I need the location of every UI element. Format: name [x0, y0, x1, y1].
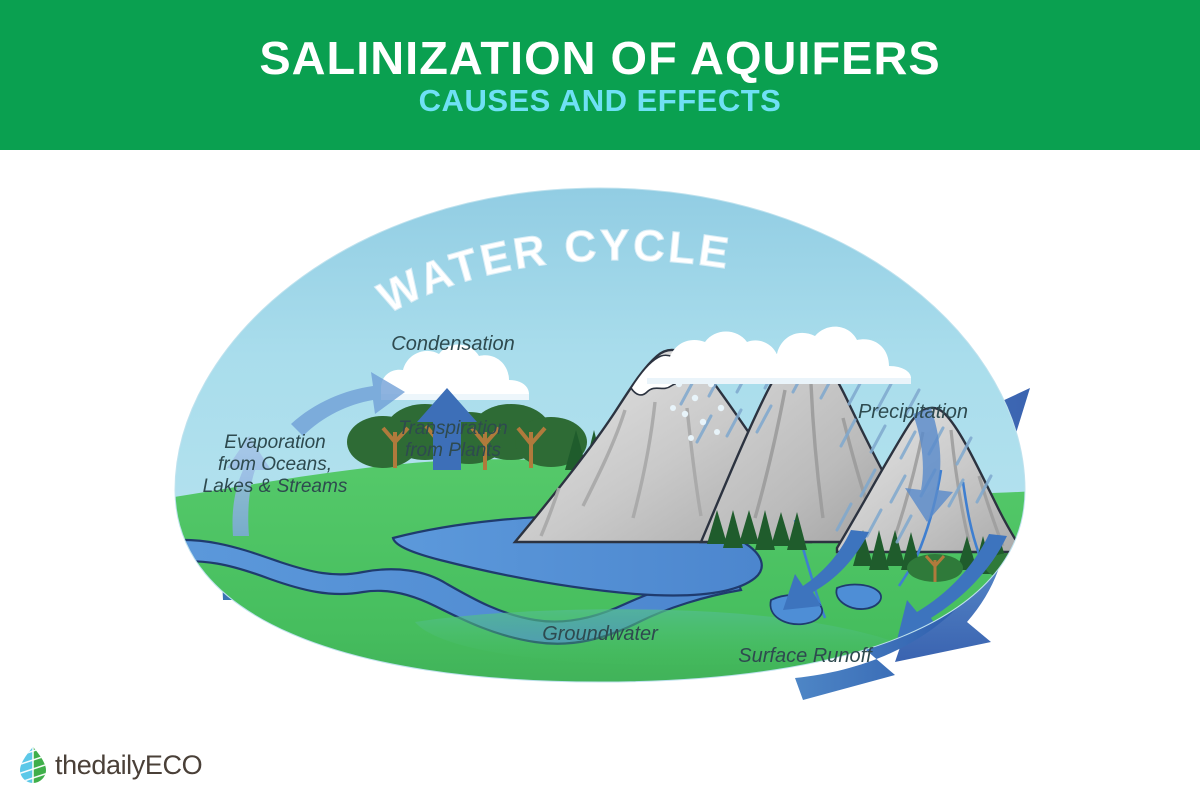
- label-transpiration-line2: from Plants: [405, 440, 502, 461]
- page-header: SALINIZATION OF AQUIFERS CAUSES AND EFFE…: [0, 0, 1200, 150]
- label-condensation: Condensation: [391, 333, 514, 355]
- label-evaporation-line1: Evaporation: [224, 432, 325, 453]
- label-groundwater: Groundwater: [542, 623, 659, 645]
- label-surface-runoff: Surface Runoff: [738, 645, 874, 667]
- site-logo[interactable]: thedailyECO: [18, 742, 202, 788]
- illustration-stage: WATER CYCLE Evaporation from Oceans, Lak…: [0, 150, 1200, 730]
- label-evaporation-line2: from Oceans,: [218, 454, 332, 475]
- label-precipitation: Precipitation: [858, 401, 968, 423]
- label-evaporation-line3: Lakes & Streams: [203, 476, 348, 497]
- logo-wordmark: thedailyECO: [55, 752, 202, 779]
- water-cycle-svg: WATER CYCLE Evaporation from Oceans, Lak…: [95, 170, 1105, 700]
- page-subtitle: CAUSES AND EFFECTS: [419, 85, 782, 116]
- label-transpiration-line1: Transpiration: [398, 418, 507, 439]
- page-title: SALINIZATION OF AQUIFERS: [259, 35, 940, 81]
- water-cycle-diagram: WATER CYCLE Evaporation from Oceans, Lak…: [95, 170, 1105, 700]
- leaf-droplet-icon: [18, 746, 48, 784]
